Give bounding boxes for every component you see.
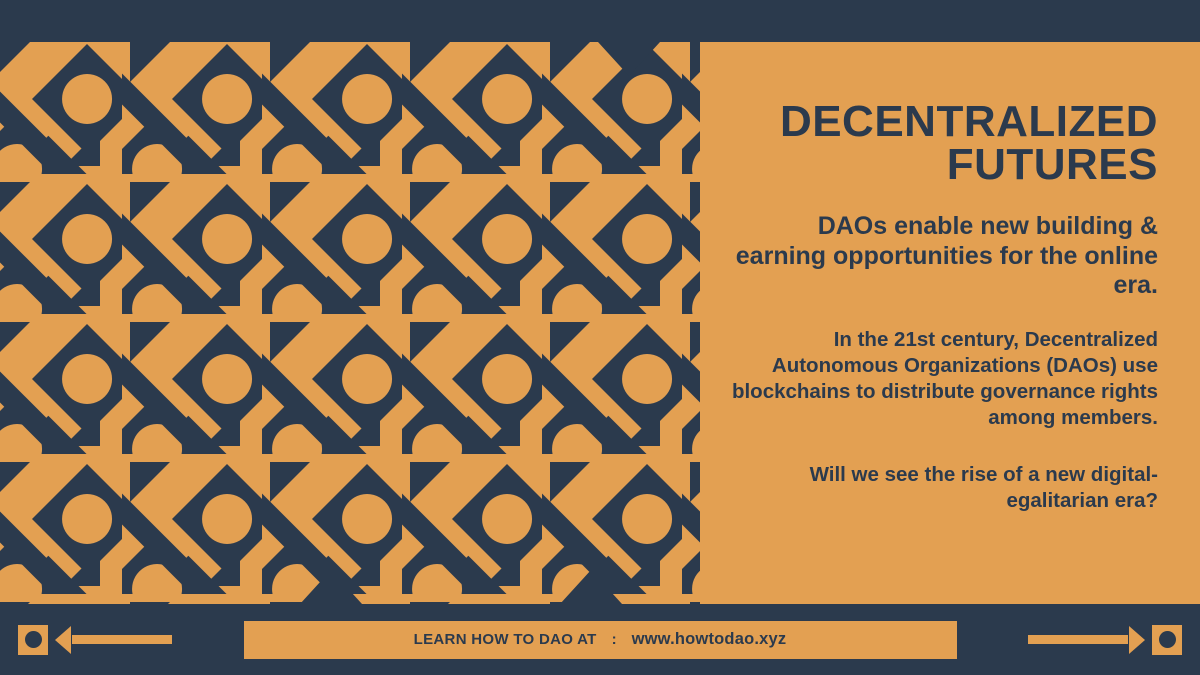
arrow-left-icon [55, 626, 71, 654]
poster-canvas: DECENTRALIZED FUTURES DAOs enable new bu… [0, 42, 1200, 604]
pattern-right-mask [700, 42, 722, 604]
footer-right-square-icon [1152, 625, 1182, 655]
arrow-right-icon [1129, 626, 1145, 654]
poster-root: DECENTRALIZED FUTURES DAOs enable new bu… [0, 0, 1200, 675]
subheadline: DAOs enable new building & earning oppor… [728, 212, 1158, 301]
footer-bar: LEARN HOW TO DAO AT : www.howtodao.xyz [0, 604, 1200, 675]
footer-left-square-icon [18, 625, 48, 655]
footer-left-rule [72, 635, 172, 644]
footer-right-rule [1028, 635, 1128, 644]
footer-cta-band[interactable]: LEARN HOW TO DAO AT : www.howtodao.xyz [244, 621, 957, 659]
pattern-fill [0, 42, 722, 604]
footer-cta-label: LEARN HOW TO DAO AT [414, 631, 597, 648]
poster-text-column: DECENTRALIZED FUTURES DAOs enable new bu… [728, 100, 1158, 514]
body-paragraph-2: Will we see the rise of a new digital-eg… [728, 462, 1158, 514]
footer-separator: : [606, 631, 623, 648]
footer-right-dot-icon [1159, 631, 1176, 648]
page-title: DECENTRALIZED FUTURES [728, 100, 1158, 186]
footer-url[interactable]: www.howtodao.xyz [632, 630, 787, 649]
body-paragraph-1: In the 21st century, Decentralized Auton… [728, 327, 1158, 432]
decorative-pattern [0, 42, 722, 604]
footer-left-dot-icon [25, 631, 42, 648]
pattern-svg [0, 42, 722, 604]
